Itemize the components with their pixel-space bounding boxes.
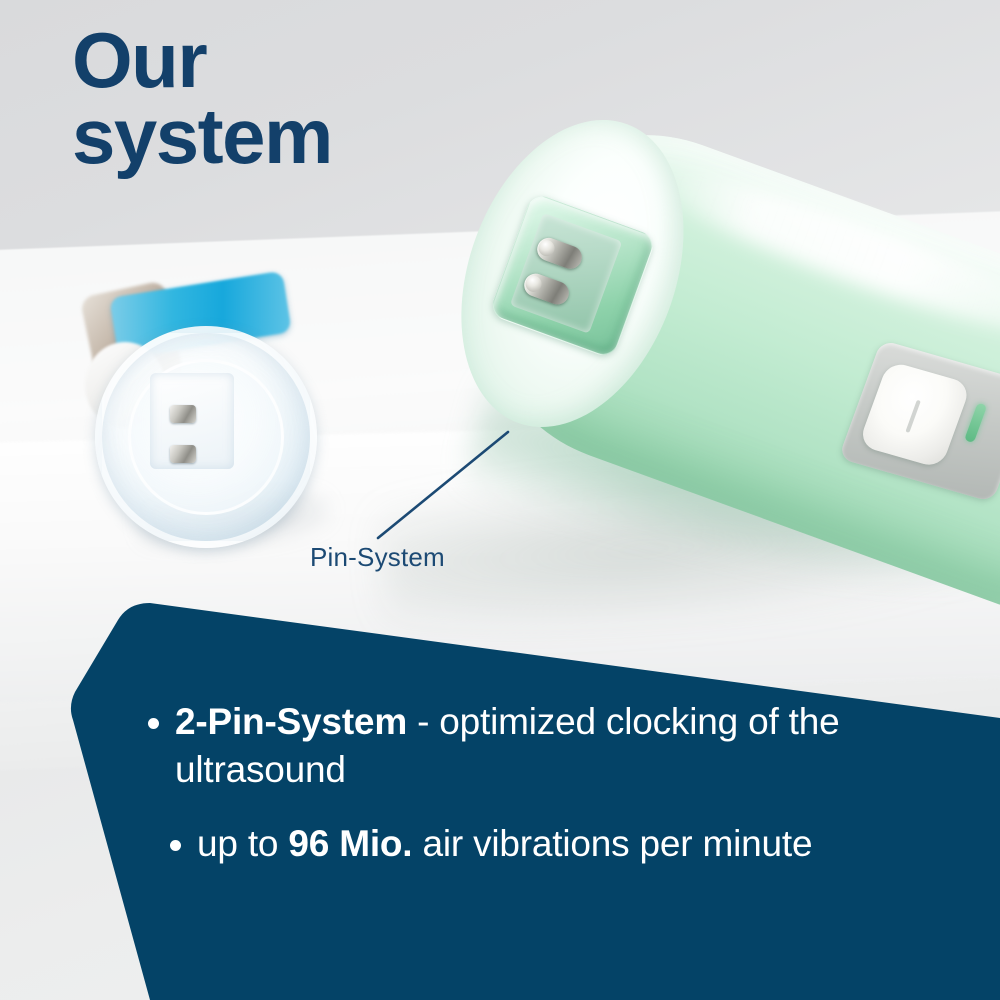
- pin-connector-inner: [510, 213, 622, 334]
- power-button: [858, 361, 972, 469]
- bullet-2-post: air vibrations per minute: [412, 823, 812, 864]
- device-highlight: [633, 145, 1000, 361]
- callout-label: Pin-System: [310, 542, 445, 573]
- bullet-text-1: 2-Pin-System - optimized clocking of the…: [175, 698, 938, 794]
- attachment-pin-socket-1: [170, 405, 196, 423]
- bullet-2-bold: 96 Mio.: [288, 823, 412, 864]
- attachment-clear-ring: [95, 326, 317, 548]
- list-item: 2-Pin-System - optimized clocking of the…: [148, 698, 938, 794]
- bullet-text-2: up to 96 Mio. air vibrations per minute: [197, 820, 812, 868]
- clear-pin-attachment: [85, 280, 325, 540]
- info-panel: 2-Pin-System - optimized clocking of the…: [0, 580, 1000, 1000]
- list-item: up to 96 Mio. air vibrations per minute: [170, 820, 938, 868]
- page-title: Our system: [72, 22, 492, 175]
- led-indicator: [964, 403, 987, 443]
- marketing-slide: Our system Pin-System 2-Pin-System - opt…: [0, 0, 1000, 1000]
- bullet-1-bold: 2-Pin-System: [175, 701, 407, 742]
- info-panel-content: 2-Pin-System - optimized clocking of the…: [148, 698, 938, 894]
- power-icon: [905, 400, 920, 433]
- bullet-point-icon: [148, 718, 159, 729]
- attachment-pin-socket-2: [170, 445, 196, 463]
- bullet-2-pre: up to: [197, 823, 288, 864]
- pin-connector-housing: [488, 192, 657, 359]
- bullet-point-icon: [170, 840, 181, 851]
- device-button-plate: [838, 340, 1000, 503]
